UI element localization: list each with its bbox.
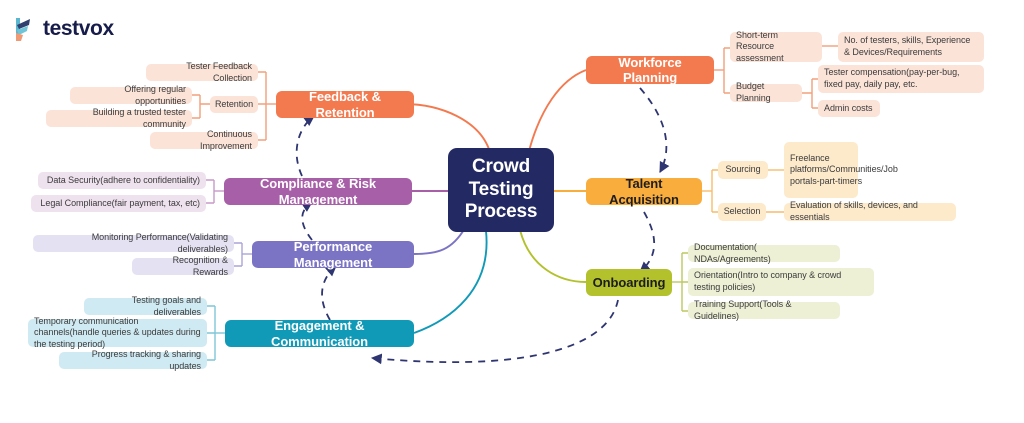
flow-talent-to-onboarding xyxy=(640,212,654,272)
branch-performance-management[interactable]: Performance Management xyxy=(252,241,414,268)
node-label: Training Support(Tools & Guidelines) xyxy=(694,299,834,322)
node-offering-regular-opportunities[interactable]: Offering regular opportunities xyxy=(70,87,192,104)
edge-wp-budget-children xyxy=(802,79,818,108)
branch-engagement-communication[interactable]: Engagement & Communication xyxy=(225,320,414,347)
edge-cr-stubs xyxy=(206,180,214,203)
flow-performance-to-compliance xyxy=(302,202,312,240)
node-budget-planning[interactable]: Budget Planning xyxy=(730,84,802,102)
edge-center-engagement xyxy=(414,231,487,333)
mindmap-canvas: testvox xyxy=(0,0,1024,423)
node-label: Retention xyxy=(215,99,253,111)
edge-pm-stubs xyxy=(234,243,242,266)
node-freelance-platforms[interactable]: Freelance platforms/Communities/Job port… xyxy=(784,142,858,198)
node-label: Evaluation of skills, devices, and essen… xyxy=(790,200,950,223)
node-sourcing[interactable]: Sourcing xyxy=(718,161,768,179)
branch-label: Talent Acquisition xyxy=(596,176,692,207)
node-label: Offering regular opportunities xyxy=(76,84,186,107)
node-documentation[interactable]: Documentation( NDAs/Agreements) xyxy=(688,245,840,262)
edge-center-workforce xyxy=(529,70,586,151)
node-label: Sourcing xyxy=(725,164,760,176)
node-label: Monitoring Performance(Validating delive… xyxy=(39,232,228,255)
edge-fr-retention-children xyxy=(192,95,210,118)
branch-workforce-planning[interactable]: Workforce Planning xyxy=(586,56,714,84)
node-testers-skills-experience-devices[interactable]: No. of testers, skills, Experience & Dev… xyxy=(838,32,984,62)
node-label: Budget Planning xyxy=(736,81,796,104)
node-label: Recognition & Rewards xyxy=(138,255,228,278)
node-monitoring-performance[interactable]: Monitoring Performance(Validating delive… xyxy=(33,235,234,252)
node-tester-compensation[interactable]: Tester compensation(pay-per-bug, fixed p… xyxy=(818,65,984,93)
node-label: Short-term Resource assessment xyxy=(736,30,816,65)
node-label: Freelance platforms/Communities/Job port… xyxy=(790,153,898,188)
branch-label: Performance Management xyxy=(262,239,404,270)
node-legal-compliance[interactable]: Legal Compliance(fair payment, tax, etc) xyxy=(31,195,206,212)
node-building-trusted-tester-community[interactable]: Building a trusted tester community xyxy=(46,110,192,127)
node-label: Progress tracking & sharing updates xyxy=(65,349,201,372)
branch-talent-acquisition[interactable]: Talent Acquisition xyxy=(586,178,702,205)
node-label: Testing goals and deliverables xyxy=(90,295,201,318)
node-label: Data Security(adhere to confidentiality) xyxy=(47,175,200,187)
edge-fr-stubs xyxy=(258,72,266,140)
node-training-support[interactable]: Training Support(Tools & Guidelines) xyxy=(688,302,840,319)
node-tester-feedback-collection[interactable]: Tester Feedback Collection xyxy=(146,64,258,81)
node-testing-goals-deliverables[interactable]: Testing goals and deliverables xyxy=(84,298,207,315)
node-label: No. of testers, skills, Experience & Dev… xyxy=(844,35,978,58)
testvox-bird-mark-icon xyxy=(14,16,36,42)
node-label: Temporary communication channels(handle … xyxy=(34,316,201,351)
node-data-security[interactable]: Data Security(adhere to confidentiality) xyxy=(38,172,206,189)
node-progress-tracking[interactable]: Progress tracking & sharing updates xyxy=(59,352,207,369)
node-label: Continuous Improvement xyxy=(156,129,252,152)
flow-workforce-to-talent xyxy=(640,88,666,172)
node-label: Building a trusted tester community xyxy=(52,107,186,130)
brand-name: testvox xyxy=(43,17,114,41)
node-evaluation-of-skills[interactable]: Evaluation of skills, devices, and essen… xyxy=(784,203,956,221)
node-short-term-resource-assessment[interactable]: Short-term Resource assessment xyxy=(730,32,822,62)
node-selection[interactable]: Selection xyxy=(718,203,766,221)
flow-compliance-to-feedback xyxy=(297,116,314,176)
node-label: Tester compensation(pay-per-bug, fixed p… xyxy=(824,67,978,90)
edge-center-feedback xyxy=(404,104,490,152)
branch-onboarding[interactable]: Onboarding xyxy=(586,269,672,296)
node-label: Legal Compliance(fair payment, tax, etc) xyxy=(40,198,200,210)
brand-logo: testvox xyxy=(14,16,114,42)
node-recognition-rewards[interactable]: Recognition & Rewards xyxy=(132,258,234,275)
center-title-line-3: Process xyxy=(465,201,538,223)
center-node[interactable]: Crowd Testing Process xyxy=(448,148,554,232)
branch-compliance-risk-management[interactable]: Compliance & Risk Management xyxy=(224,178,412,205)
node-label: Orientation(Intro to company & crowd tes… xyxy=(694,270,868,293)
branch-label: Onboarding xyxy=(593,275,666,290)
node-label: Admin costs xyxy=(824,103,872,115)
branch-label: Workforce Planning xyxy=(596,55,704,86)
node-label: Tester Feedback Collection xyxy=(152,61,252,84)
node-orientation[interactable]: Orientation(Intro to company & crowd tes… xyxy=(688,268,874,296)
branch-label: Compliance & Risk Management xyxy=(234,176,402,207)
node-label: Selection xyxy=(724,206,761,218)
edge-ec-stubs xyxy=(207,306,215,360)
branch-label: Feedback & Retention xyxy=(286,89,404,120)
branch-label: Engagement & Communication xyxy=(235,318,404,349)
center-title-line-2: Testing xyxy=(469,179,534,201)
center-title-line-1: Crowd xyxy=(472,156,530,178)
edge-ta-stubs xyxy=(712,170,718,212)
node-retention[interactable]: Retention xyxy=(210,96,258,113)
node-admin-costs[interactable]: Admin costs xyxy=(818,100,880,117)
node-continuous-improvement[interactable]: Continuous Improvement xyxy=(150,132,258,149)
node-label: Documentation( NDAs/Agreements) xyxy=(694,242,834,265)
node-temporary-communication-channels[interactable]: Temporary communication channels(handle … xyxy=(28,319,207,347)
edge-center-onboarding xyxy=(520,230,586,282)
branch-feedback-retention[interactable]: Feedback & Retention xyxy=(276,91,414,118)
flow-engagement-to-performance xyxy=(322,266,336,320)
